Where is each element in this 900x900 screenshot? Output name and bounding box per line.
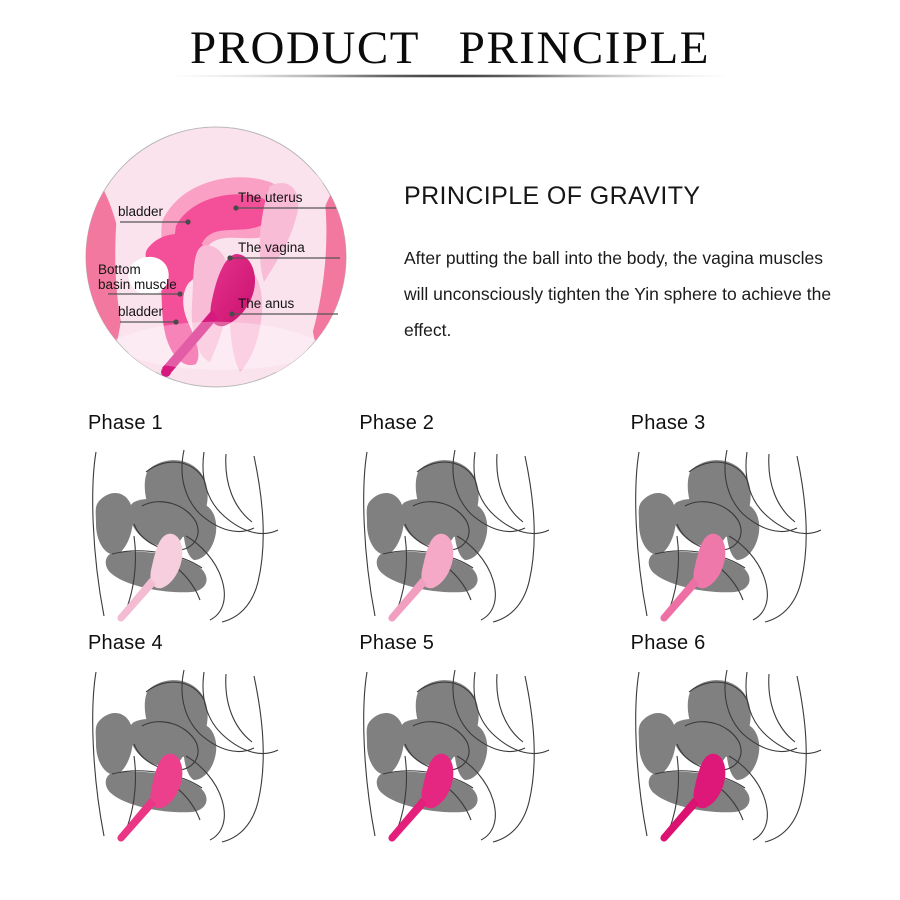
gravity-section: PRINCIPLE OF GRAVITY After putting the b… [404,182,854,349]
pelvic-art [93,670,278,842]
phase-illustration-4 [82,664,332,846]
page-header: PRODUCT PRINCIPLE [0,24,900,73]
label-the-anus: The anus [238,296,295,311]
pelvic-art [635,670,820,842]
gravity-body-text: After putting the ball into the body, th… [404,241,844,349]
phase-illustration-1 [82,444,332,626]
label-bottom-basin-muscle-line2: basin muscle [98,277,177,292]
phase-label-1: Phase 1 [88,412,357,438]
page-title: PRODUCT PRINCIPLE [0,24,900,73]
phase-label-4: Phase 4 [88,632,357,658]
label-bladder-top: bladder [118,204,164,219]
phase-label-2: Phase 2 [359,412,628,438]
phase-label-5: Phase 5 [359,632,628,658]
phase-illustration-5 [353,664,603,846]
pelvic-art [364,670,549,842]
phase-cell-4: Phase 4 [82,632,357,846]
phase-row-2: Phase 4 [0,632,900,846]
phase-cell-2: Phase 2 [353,412,628,626]
pelvic-art [635,450,820,622]
pelvic-art [364,450,549,622]
phase-illustration-3 [625,444,875,626]
phase-cell-6: Phase 6 [625,632,900,846]
phase-illustration-2 [353,444,603,626]
label-bladder-bottom: bladder [118,304,164,319]
title-divider [175,74,725,78]
phase-illustration-6 [625,664,875,846]
phase-label-3: Phase 3 [631,412,900,438]
anatomy-diagram: bladder Bottom basin muscle bladder The … [84,126,348,388]
label-the-vagina: The vagina [238,240,305,255]
pelvic-art [93,450,278,622]
phase-grid: Phase 1 [0,412,900,846]
phase-cell-5: Phase 5 [353,632,628,846]
label-the-uterus: The uterus [238,190,303,205]
phase-row-1: Phase 1 [0,412,900,626]
gravity-heading: PRINCIPLE OF GRAVITY [404,182,854,211]
phase-cell-1: Phase 1 [82,412,357,626]
phase-label-6: Phase 6 [631,632,900,658]
phase-cell-3: Phase 3 [625,412,900,626]
label-bottom-basin-muscle-line1: Bottom [98,262,141,277]
